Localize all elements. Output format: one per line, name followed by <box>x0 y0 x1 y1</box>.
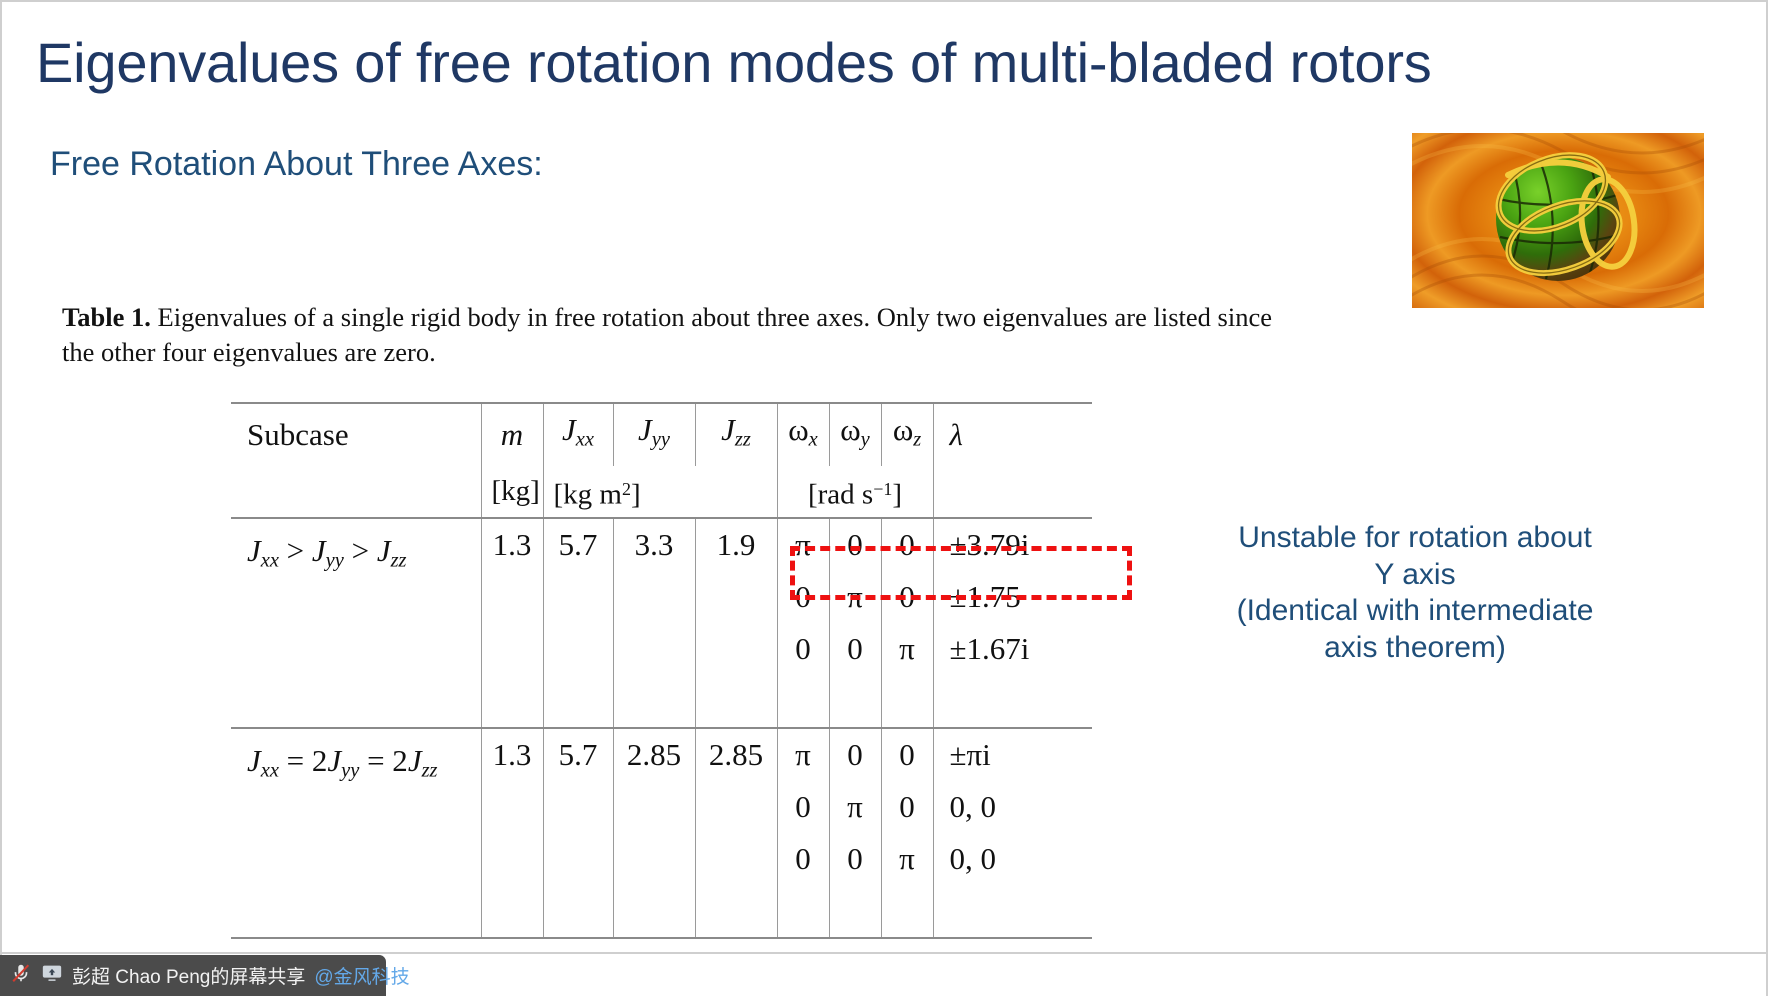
slide-subtitle: Free Rotation About Three Axes: <box>50 145 543 184</box>
slide-border-left <box>0 0 2 996</box>
cell-omega-y: 0 <box>829 623 881 675</box>
spacer-cell <box>777 675 829 728</box>
cell-omega-z: 0 <box>881 781 933 833</box>
cell-omega-z: 0 <box>881 728 933 781</box>
table-row: Jxx = 2Jyy = 2Jzz 1.3 5.7 2.85 2.85 π 0 … <box>231 728 1092 781</box>
cell-lambda: ±1.75 <box>933 571 1092 623</box>
annotation-line-2: Y axis <box>1200 557 1630 594</box>
spacer-cell <box>881 675 933 728</box>
cell-jxx-2: 5.7 <box>543 728 613 938</box>
annotation-line-4: axis theorem) <box>1200 630 1630 667</box>
cell-omega-z: 0 <box>881 518 933 571</box>
units-omega: [rad s−1] <box>777 466 933 518</box>
presentation-slide: Eigenvalues of free rotation modes of mu… <box>0 0 1768 996</box>
header-lambda: λ <box>933 403 1092 466</box>
screen-share-icon[interactable] <box>41 962 63 989</box>
cell-omega-x: 0 <box>777 571 829 623</box>
screen-share-label: 彭超 Chao Peng的屏幕共享 <box>72 962 305 989</box>
table-caption-label: Table 1. <box>62 302 151 332</box>
units-mass: [kg] <box>481 466 543 518</box>
annotation-line-3: (Identical with intermediate <box>1200 593 1630 630</box>
cell-lambda: 0, 0 <box>933 833 1092 885</box>
cell-mass-1: 1.3 <box>481 518 543 728</box>
header-subcase: Subcase <box>231 403 481 466</box>
rotating-ball-figure <box>1412 133 1704 308</box>
spacer-cell <box>933 675 1092 728</box>
spacer-cell <box>933 885 1092 938</box>
cell-omega-x: π <box>777 728 829 781</box>
header-jxx: Jxx <box>543 403 613 466</box>
spacer-cell <box>829 885 881 938</box>
units-lambda-empty <box>933 466 1092 518</box>
spacer-cell <box>829 675 881 728</box>
cell-omega-y: 0 <box>829 518 881 571</box>
header-omega-y: ωy <box>829 403 881 466</box>
spacer-cell <box>881 885 933 938</box>
cell-lambda: ±3.79i <box>933 518 1092 571</box>
cell-jyy-2: 2.85 <box>613 728 695 938</box>
eigenvalues-table-grid: Subcase m Jxx Jyy Jzz ωx ωy ωz λ [kg] [k… <box>231 402 1092 939</box>
cell-omega-x: π <box>777 518 829 571</box>
cell-jyy-1: 3.3 <box>613 518 695 728</box>
screen-share-org-tag: @金风科技 <box>314 962 409 989</box>
table-caption-text: Eigenvalues of a single rigid body in fr… <box>62 302 1272 367</box>
cell-jzz-2: 2.85 <box>695 728 777 938</box>
table-caption: Table 1. Eigenvalues of a single rigid b… <box>62 300 1272 370</box>
header-jyy: Jyy <box>613 403 695 466</box>
spacer-cell <box>777 885 829 938</box>
header-omega-z: ωz <box>881 403 933 466</box>
slide-border-bottom <box>0 952 1768 954</box>
cell-lambda: ±1.67i <box>933 623 1092 675</box>
table-row: Jxx > Jyy > Jzz 1.3 5.7 3.3 1.9 π 0 0 ±3… <box>231 518 1092 571</box>
slide-title: Eigenvalues of free rotation modes of mu… <box>36 32 1716 94</box>
rotating-ball-svg <box>1412 133 1704 308</box>
cell-omega-y: 0 <box>829 833 881 885</box>
annotation-line-1: Unstable for rotation about <box>1200 520 1630 557</box>
cell-omega-x: 0 <box>777 623 829 675</box>
eigenvalues-table: Subcase m Jxx Jyy Jzz ωx ωy ωz λ [kg] [k… <box>231 402 1092 939</box>
cell-mass-2: 1.3 <box>481 728 543 938</box>
header-omega-x: ωx <box>777 403 829 466</box>
header-jzz: Jzz <box>695 403 777 466</box>
slide-border-top <box>0 0 1768 2</box>
annotation-text: Unstable for rotation about Y axis (Iden… <box>1200 520 1630 666</box>
units-inertia: [kg m2] <box>543 466 777 518</box>
table-header-row: Subcase m Jxx Jyy Jzz ωx ωy ωz λ <box>231 403 1092 466</box>
microphone-muted-icon[interactable] <box>10 962 32 989</box>
cell-omega-x: 0 <box>777 781 829 833</box>
units-subcase-empty <box>231 466 481 518</box>
cell-omega-y: 0 <box>829 728 881 781</box>
cell-subcase-1: Jxx > Jyy > Jzz <box>231 518 481 728</box>
table-units-row: [kg] [kg m2] [rad s−1] <box>231 466 1092 518</box>
cell-jxx-1: 5.7 <box>543 518 613 728</box>
cell-lambda: 0, 0 <box>933 781 1092 833</box>
cell-omega-z: π <box>881 833 933 885</box>
cell-omega-x: 0 <box>777 833 829 885</box>
cell-omega-y: π <box>829 571 881 623</box>
cell-jzz-1: 1.9 <box>695 518 777 728</box>
cell-lambda: ±πi <box>933 728 1092 781</box>
cell-omega-z: π <box>881 623 933 675</box>
cell-omega-z: 0 <box>881 571 933 623</box>
cell-omega-y: π <box>829 781 881 833</box>
screen-share-taskbar[interactable]: 彭超 Chao Peng的屏幕共享 @金风科技 <box>0 955 386 996</box>
cell-subcase-2: Jxx = 2Jyy = 2Jzz <box>231 728 481 938</box>
header-mass: m <box>481 403 543 466</box>
